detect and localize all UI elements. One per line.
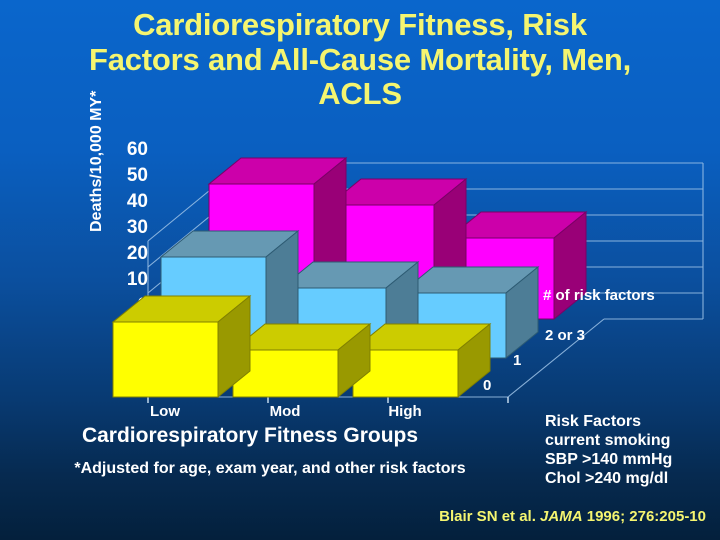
x-axis-title: Cardiorespiratory Fitness Groups — [0, 424, 500, 448]
risk-factor-smoking: current smoking — [545, 432, 672, 451]
x-category-low: Low — [125, 403, 205, 420]
risk-factor-sbp: SBP >140 mmHg — [545, 451, 672, 470]
bar-0-high — [353, 324, 490, 397]
risk-factors-heading: Risk Factors — [545, 413, 672, 432]
y-axis-title: Deaths/10,000 MY* — [88, 192, 106, 212]
y-tick-50: 50 — [108, 166, 148, 185]
chart-gridlines — [148, 163, 703, 397]
y-axis-tick-labels: 60 50 40 30 20 10 0 — [108, 150, 148, 420]
bar-1-high — [401, 267, 538, 358]
y-tick-0: 0 — [108, 296, 148, 315]
bar-1-low — [161, 231, 298, 358]
y-tick-30: 30 — [108, 218, 148, 237]
depth-label-0: 0 — [483, 377, 491, 394]
title-line-3: ACLS — [0, 77, 720, 112]
y-tick-60: 60 — [108, 140, 148, 159]
bar-1-mod — [281, 262, 418, 358]
depth-label-1: 1 — [513, 352, 521, 369]
citation-journal: JAMA — [540, 508, 583, 525]
citation-author: Blair SN et al. — [439, 508, 536, 525]
y-tick-20: 20 — [108, 244, 148, 263]
bar-2or3-low — [209, 158, 346, 319]
legend-title: # of risk factors — [543, 287, 655, 304]
x-category-mod: Mod — [245, 403, 325, 420]
bar-group-1 — [161, 231, 538, 358]
chart-footnote: *Adjusted for age, exam year, and other … — [0, 460, 540, 478]
bar-group-2or3 — [209, 158, 586, 319]
y-tick-40: 40 — [108, 192, 148, 211]
y-tick-10: 10 — [108, 270, 148, 289]
page-title: Cardiorespiratory Fitness, Risk Factors … — [0, 8, 720, 112]
depth-label-2or3: 2 or 3 — [545, 327, 585, 344]
bar-2or3-mod — [329, 179, 466, 319]
bar-group-0 — [113, 296, 490, 397]
slide: Cardiorespiratory Fitness, Risk Factors … — [0, 0, 720, 540]
citation: Blair SN et al. JAMA 1996; 276:205-10 — [0, 508, 706, 525]
risk-factor-chol: Chol >240 mg/dl — [545, 470, 672, 489]
title-line-2: Factors and All-Cause Mortality, Men, — [0, 43, 720, 78]
risk-factors-block: Risk Factors current smoking SBP >140 mm… — [545, 413, 672, 489]
title-line-1: Cardiorespiratory Fitness, Risk — [0, 8, 720, 43]
bar-0-mod — [233, 324, 370, 397]
x-category-high: High — [365, 403, 445, 420]
y-axis-title-text: Deaths/10,000 MY* — [88, 212, 106, 232]
citation-ref: 1996; 276:205-10 — [587, 508, 706, 525]
